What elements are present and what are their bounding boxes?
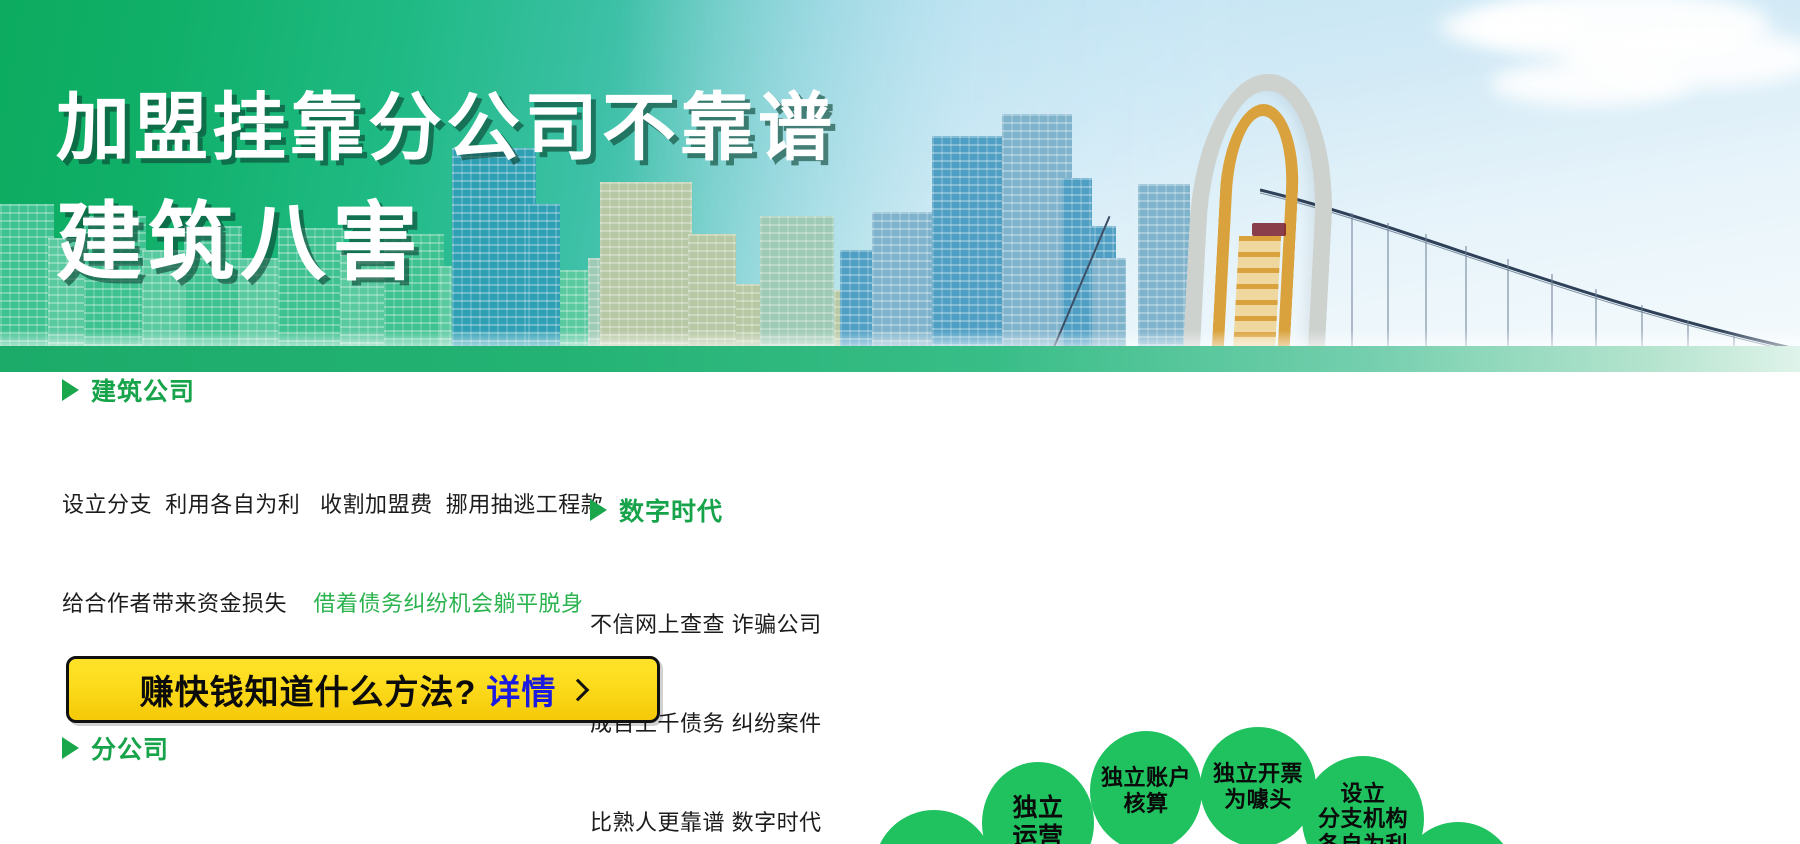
bridge-illustration bbox=[1140, 64, 1800, 354]
content-area: 建筑公司 设立分支 利用各自为利 收割加盟费 挪用抽逃工程款 给合作者带来资金损… bbox=[0, 372, 1800, 844]
line-highlight: 借着债务纠纷机会躺平脱身 bbox=[313, 591, 583, 616]
line-text: 给合作者带来资金损失 bbox=[62, 591, 313, 616]
bridge-deck bbox=[1260, 186, 1800, 354]
eight-harms-diagram: 建筑八害 借着使用 总公司资质 业绩和荣誉 独立承揽 签订合同 独立 运营 独立… bbox=[900, 724, 1800, 844]
hero-title-line1: 加盟挂靠分公司不靠谱 bbox=[56, 68, 836, 175]
section-body: 设立分支 利用各自为利 收割加盟费 挪用抽逃工程款 给合作者带来资金损失 借着债… bbox=[62, 422, 632, 686]
section-heading-text: 建筑公司 bbox=[91, 372, 195, 408]
cta-main-label: 赚快钱知道什么方法? bbox=[140, 665, 477, 714]
bubble-line: 独立账户 bbox=[1101, 765, 1191, 791]
ground-fade bbox=[0, 330, 1800, 346]
bubble-independent-account[interactable]: 独立账户 核算 bbox=[1090, 731, 1202, 844]
left-column: 建筑公司 设立分支 利用各自为利 收割加盟费 挪用抽逃工程款 给合作者带来资金损… bbox=[62, 372, 632, 844]
section-branch-company: 分公司 诱骗合作 赚大钱 出事跑路 换公司 bbox=[62, 730, 632, 844]
bubble-line: 独立 bbox=[1012, 794, 1063, 823]
bubble-line: 各自为利 bbox=[1318, 832, 1408, 844]
bridge-sign bbox=[1252, 223, 1286, 236]
section-construction-company: 建筑公司 设立分支 利用各自为利 收割加盟费 挪用抽逃工程款 给合作者带来资金损… bbox=[62, 372, 632, 686]
section-body-line: 设立分支 利用各自为利 收割加盟费 挪用抽逃工程款 bbox=[62, 488, 632, 521]
bubble-line: 分支机构 bbox=[1318, 806, 1408, 832]
line-text: 设立分支 利用各自为利 收割加盟费 挪用抽逃工程款 bbox=[62, 492, 603, 517]
triangle-bullet-icon bbox=[62, 737, 79, 759]
bubble-line: 独立开票 bbox=[1213, 761, 1303, 787]
section-heading-text: 数字时代 bbox=[619, 492, 723, 528]
chevron-right-icon bbox=[567, 678, 590, 701]
ground-band bbox=[0, 346, 1800, 372]
section-heading-text: 分公司 bbox=[91, 730, 169, 766]
cta-link-label: 详情 bbox=[486, 665, 556, 714]
bubble-line: 设立 bbox=[1340, 781, 1385, 807]
section-body: 诱骗合作 赚大钱 出事跑路 换公司 bbox=[62, 780, 632, 844]
hero-title-line2: 建筑八害 bbox=[56, 172, 424, 297]
page-root: 加盟挂靠分公司不靠谱 建筑八害 建筑公司 设立分支 利用各自为利 收割加盟费 挪… bbox=[0, 0, 1800, 844]
section-body-line: 给合作者带来资金损失 借着债务纠纷机会躺平脱身 bbox=[62, 587, 632, 620]
section-heading-row: 建筑公司 bbox=[62, 372, 632, 408]
bubble-line: 运营 bbox=[1012, 823, 1063, 844]
hero-banner: 加盟挂靠分公司不靠谱 建筑八害 bbox=[0, 0, 1800, 372]
cloud-shape bbox=[1440, 8, 1590, 46]
section-body-line: 不信网上查查 诈骗公司 bbox=[590, 608, 850, 641]
section-heading-row: 分公司 bbox=[62, 730, 632, 766]
triangle-bullet-icon bbox=[590, 499, 607, 521]
bubble-line: 核算 bbox=[1123, 791, 1168, 817]
bridge-cables-svg bbox=[1260, 186, 1800, 354]
bubble-line: 为噱头 bbox=[1224, 787, 1292, 813]
section-heading-row: 数字时代 bbox=[590, 492, 850, 528]
triangle-bullet-icon bbox=[62, 379, 79, 401]
cta-details-button[interactable]: 赚快钱知道什么方法? 详情 bbox=[66, 656, 660, 723]
section-body-line: 比熟人更靠谱 数字时代 bbox=[590, 806, 850, 839]
bubble-independent-invoicing[interactable]: 独立开票 为噱头 bbox=[1200, 727, 1316, 844]
